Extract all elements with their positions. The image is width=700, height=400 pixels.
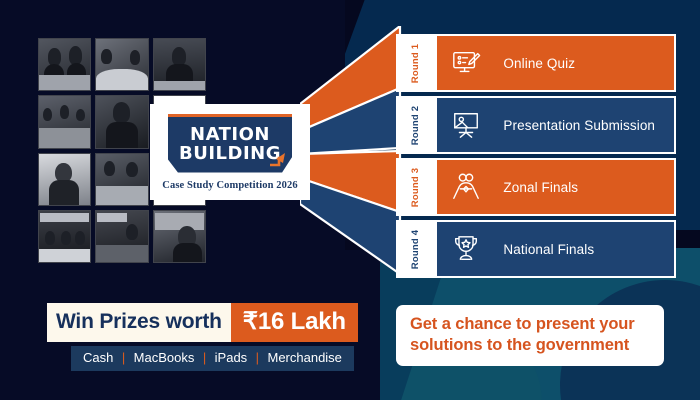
- collage-photo: [38, 38, 91, 91]
- collage-photo: [95, 95, 148, 148]
- rounds-list: Round 1 Online Quiz Round 2: [396, 34, 676, 278]
- round-4-body: National Finals: [437, 222, 674, 276]
- round-2-tab: Round 2: [396, 98, 437, 152]
- round-4-tab-label: Round 4: [410, 229, 421, 268]
- round-item-4[interactable]: Round 4 National Finals: [396, 220, 676, 278]
- quiz-screen-pencil-icon: [451, 46, 485, 80]
- cta-card[interactable]: Get a chance to present your solutions t…: [396, 305, 664, 366]
- collage-photo: [38, 210, 91, 263]
- round-2-body: Presentation Submission: [437, 98, 674, 152]
- round-3-body: Zonal Finals: [437, 160, 674, 214]
- prize-item-macbooks: MacBooks: [134, 350, 195, 365]
- logo-word-bottom: BUILDING: [179, 145, 281, 163]
- round-1-label: Online Quiz: [503, 56, 575, 71]
- presentation-board-icon: [451, 108, 485, 142]
- brand-logo-panel: NATION BUILDING Case Study Competition 2…: [150, 104, 310, 200]
- cta-line-1: Get a chance to present your: [410, 314, 650, 335]
- round-1-tab: Round 1: [396, 36, 437, 90]
- round-1-body: Online Quiz: [437, 36, 674, 90]
- collage-photo: [95, 38, 148, 91]
- cta-line-2: solutions to the government: [410, 335, 650, 356]
- collage-photo: [38, 153, 91, 206]
- prize-item-merchandise: Merchandise: [267, 350, 341, 365]
- team-people-icon: [451, 170, 485, 204]
- collage-photo: [38, 95, 91, 148]
- prize-headline-row: Win Prizes worth ₹16 Lakh: [47, 303, 358, 342]
- logo-tagline: Case Study Competition 2026: [162, 180, 297, 191]
- prize-item-cash: Cash: [83, 350, 113, 365]
- round-3-tab-label: Round 3: [410, 167, 421, 206]
- round-3-label: Zonal Finals: [503, 180, 578, 195]
- round-1-tab-label: Round 1: [410, 43, 421, 82]
- round-item-2[interactable]: Round 2 Presentation Submission: [396, 96, 676, 154]
- prize-amount: ₹16 Lakh: [231, 303, 358, 342]
- growth-arrow-icon: [270, 153, 286, 167]
- round-item-1[interactable]: Round 1 Online Quiz: [396, 34, 676, 92]
- cta-text: Get a chance to present your solutions t…: [410, 314, 650, 355]
- collage-photo: [95, 153, 148, 206]
- collage-photo: [153, 210, 206, 263]
- prize-item-ipads: iPads: [215, 350, 248, 365]
- prize-items-bar: Cash | MacBooks | iPads | Merchandise: [71, 346, 354, 371]
- logo-badge: NATION BUILDING: [168, 114, 292, 173]
- collage-photo: [153, 38, 206, 91]
- round-item-3[interactable]: Round 3 Zonal Finals: [396, 158, 676, 216]
- prize-separator: |: [118, 350, 129, 365]
- prize-heading: Win Prizes worth: [47, 303, 231, 342]
- logo-word-top: NATION: [190, 126, 270, 144]
- prize-separator: |: [252, 350, 263, 365]
- round-4-label: National Finals: [503, 242, 594, 257]
- round-2-label: Presentation Submission: [503, 118, 655, 133]
- round-4-tab: Round 4: [396, 222, 437, 276]
- round-2-tab-label: Round 2: [410, 105, 421, 144]
- promo-banner: NATION BUILDING Case Study Competition 2…: [0, 0, 700, 400]
- collage-photo: [95, 210, 148, 263]
- prize-separator: |: [199, 350, 210, 365]
- round-3-tab: Round 3: [396, 160, 437, 214]
- trophy-star-icon: [451, 232, 485, 266]
- prize-banner: Win Prizes worth ₹16 Lakh Cash | MacBook…: [47, 303, 358, 371]
